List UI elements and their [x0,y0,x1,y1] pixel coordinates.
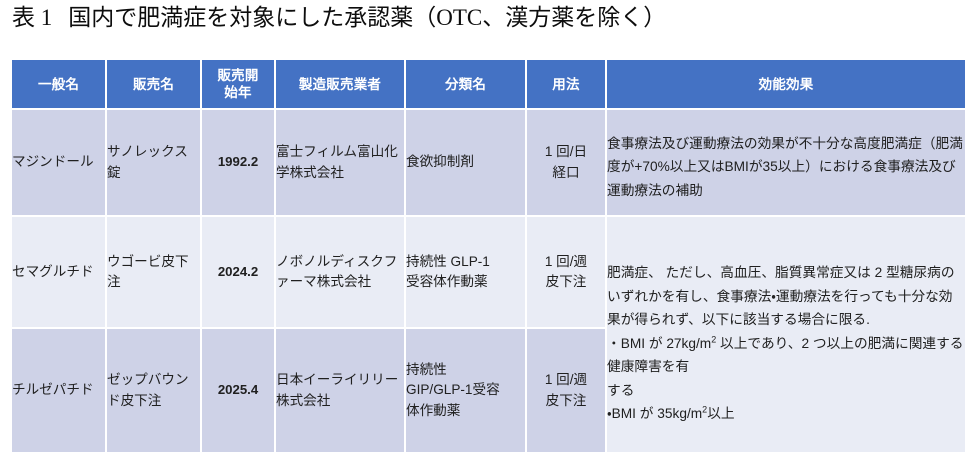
cell-indication-text-part2: ・BMI が 27kg/m2 以上であり、2 つ以上の肥満に関連する健康障害を有… [607,332,965,426]
cell-brand-name-text: ゼップバウンド皮下注 [107,370,200,411]
cell-manufacturer-text: 富士フィルム富山化学株式会社 [276,142,404,183]
cell-launch-year-text: 1992.2 [202,152,274,173]
cell-indication-text-part1: 肥満症、 ただし、高血圧、脂質異常症又は 2 型糖尿病のいずれかを有し、食事療法… [607,243,965,332]
cell-brand-name-text: サノレックス錠 [107,142,200,183]
cell-classification-line1: 持続性 [406,360,525,381]
cell-generic-name: セマグルチド [12,217,105,327]
column-header-launch-year-label-line1: 販売開 [202,67,274,84]
indication-bullet-1-post: 以上であり、2 つ以上の肥 [716,336,881,351]
cell-classification-line3: 体作動薬 [406,401,525,422]
column-header-launch-year: 販売開始年 [202,60,274,108]
cell-indication: 肥満症、 ただし、高血圧、脂質異常症又は 2 型糖尿病のいずれかを有し、食事療法… [607,217,965,452]
cell-launch-year-text: 2024.2 [202,262,274,283]
cell-dosage-line1: 1 回/日 [527,142,605,163]
table-body: マジンドール サノレックス錠 1992.2 富士フィルム富山化学株式会社 食欲抑… [12,110,965,452]
column-header-launch-year-label-line2: 始年 [202,84,274,101]
column-header-brand-name-label: 販売名 [107,76,200,93]
cell-dosage-line2: 皮下注 [527,272,605,293]
cell-generic-name: チルゼパチド [12,329,105,452]
cell-launch-year: 1992.2 [202,110,274,215]
indication-bullet-1-cont2: する [607,383,634,398]
column-header-dosage-label: 用法 [527,76,605,93]
cell-classification: 食欲抑制剤 [406,110,525,215]
header-row: 一般名 販売名 販売開始年 製造販売業者 分類名 用法 効能効果 [12,60,965,108]
cell-classification-line2: 受容体作動薬 [406,272,525,293]
cell-dosage-line1: 1 回/週 [527,370,605,391]
column-header-brand-name: 販売名 [107,60,200,108]
cell-manufacturer-text: 日本イーライリリー株式会社 [276,370,404,411]
cell-indication: 食事療法及び運動療法の効果が不十分な高度肥満症（肥満度が+70%以上又はBMIが… [607,110,965,215]
column-header-generic-name-label: 一般名 [12,76,105,93]
drug-approval-table: 一般名 販売名 販売開始年 製造販売業者 分類名 用法 効能効果 マジンドール … [10,58,967,454]
cell-manufacturer: ノボノルディスクファーマ株式会社 [276,217,404,327]
cell-generic-name-text: セマグルチド [12,262,105,283]
cell-generic-name-text: マジンドール [12,152,105,173]
cell-classification-line1: 持続性 GLP-1 [406,252,525,273]
column-header-indication-label: 効能効果 [607,76,965,93]
cell-brand-name: ウゴービ皮下注 [107,217,200,327]
indication-bullet-1-pre: ・BMI が 27kg/m [607,336,711,351]
cell-dosage: 1 回/週皮下注 [527,329,605,452]
cell-dosage-line2: 皮下注 [527,391,605,412]
column-header-classification-label: 分類名 [406,76,525,93]
cell-launch-year: 2025.4 [202,329,274,452]
column-header-indication: 効能効果 [607,60,965,108]
column-header-classification: 分類名 [406,60,525,108]
table-row: セマグルチド ウゴービ皮下注 2024.2 ノボノルディスクファーマ株式会社 持… [12,217,965,327]
cell-generic-name-text: チルゼパチド [12,380,105,401]
cell-generic-name: マジンドール [12,110,105,215]
column-header-dosage: 用法 [527,60,605,108]
cell-dosage-line1: 1 回/週 [527,252,605,273]
cell-classification: 持続性GIP/GLP-1受容体作動薬 [406,329,525,452]
column-header-generic-name: 一般名 [12,60,105,108]
table-caption: 表 1国内で肥満症を対象にした承認薬（OTC、漢方薬を除く） [12,3,666,33]
drug-approval-table-wrapper: 一般名 販売名 販売開始年 製造販売業者 分類名 用法 効能効果 マジンドール … [10,58,963,451]
cell-brand-name-text: ウゴービ皮下注 [107,252,200,293]
page-root: 表 1国内で肥満症を対象にした承認薬（OTC、漢方薬を除く） 一般名 販売名 販… [0,0,973,462]
column-header-manufacturer-label: 製造販売業者 [276,76,404,93]
cell-launch-year-text: 2025.4 [202,380,274,401]
indication-bullet-2-post: 以上 [707,406,734,421]
cell-brand-name: サノレックス錠 [107,110,200,215]
cell-classification-line2: GIP/GLP-1受容 [406,380,525,401]
cell-brand-name: ゼップバウンド皮下注 [107,329,200,452]
cell-classification: 持続性 GLP-1受容体作動薬 [406,217,525,327]
column-header-manufacturer: 製造販売業者 [276,60,404,108]
table-head: 一般名 販売名 販売開始年 製造販売業者 分類名 用法 効能効果 [12,60,965,108]
cell-dosage-line2: 経口 [527,163,605,184]
table-row: マジンドール サノレックス錠 1992.2 富士フィルム富山化学株式会社 食欲抑… [12,110,965,215]
cell-manufacturer-text: ノボノルディスクファーマ株式会社 [276,252,404,293]
cell-indication-text: 食事療法及び運動療法の効果が不十分な高度肥満症（肥満度が+70%以上又はBMIが… [607,123,965,203]
table-caption-number: 表 1 [12,5,52,30]
table-caption-text: 国内で肥満症を対象にした承認薬（OTC、漢方薬を除く） [68,5,666,30]
cell-dosage: 1 回/週皮下注 [527,217,605,327]
cell-classification-text: 食欲抑制剤 [406,152,525,173]
indication-bullet-2-pre: ・BMI が 35kg/m [607,406,702,421]
cell-manufacturer: 富士フィルム富山化学株式会社 [276,110,404,215]
cell-manufacturer: 日本イーライリリー株式会社 [276,329,404,452]
cell-dosage: 1 回/日経口 [527,110,605,215]
cell-launch-year: 2024.2 [202,217,274,327]
